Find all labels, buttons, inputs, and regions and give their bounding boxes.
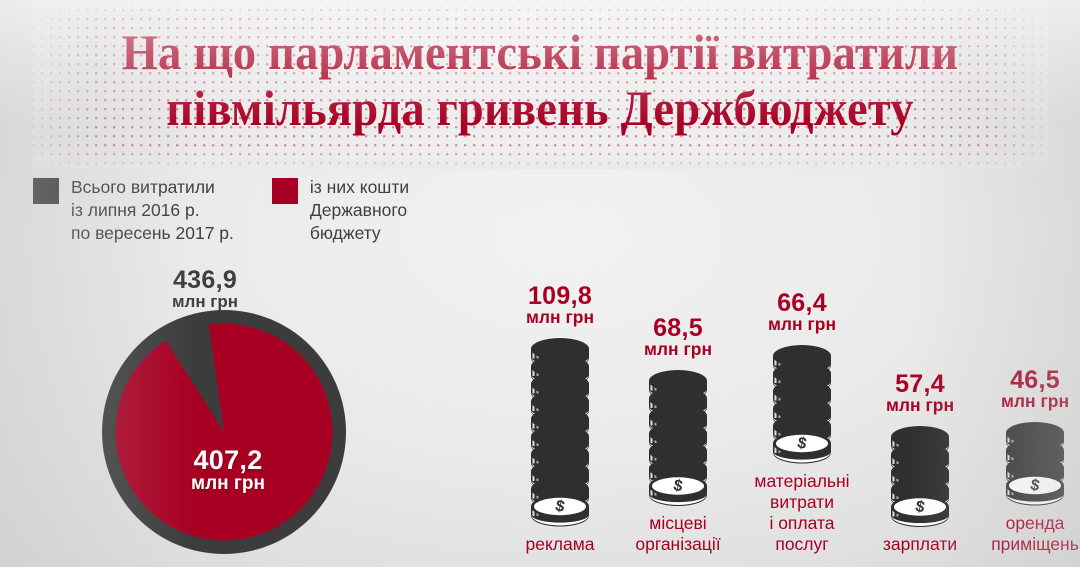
- legend-item-label: Всього витратили із липня 2016 р. по вер…: [71, 176, 234, 245]
- coin-stack-value-label: 66,4 млн грн: [750, 293, 854, 335]
- legend-item-total: Всього витратили із липня 2016 р. по вер…: [33, 176, 234, 245]
- pie-slice-value: 407,2: [140, 448, 316, 472]
- coin-stack-category-label: місцеві організації: [626, 513, 730, 555]
- pie-slice-label: 407,2 млн грн: [140, 448, 316, 496]
- coin-stack-icon: $: [626, 366, 730, 508]
- coin-stack-icon: $: [983, 418, 1080, 508]
- title-line-1: На що парламентські партії витратили: [122, 24, 958, 80]
- coin-stack-item: 68,5 млн грн $ місцеві організації: [626, 318, 730, 555]
- coin-stack-value: 66,4: [750, 293, 854, 314]
- coin-stack-unit: млн грн: [868, 395, 972, 416]
- dark-square-swatch-icon: [33, 178, 59, 204]
- legend-item-budget: із них кошти Державного бюджету: [272, 176, 409, 245]
- coin-stack-value: 68,5: [626, 318, 730, 339]
- coin-stack-category-label: матеріальні витрати і оплата послуг: [750, 471, 854, 555]
- pie-slice-budget: [115, 324, 332, 541]
- coin-stack-item: 57,4 млн грн $ зарплати: [868, 374, 972, 555]
- red-square-swatch-icon: [272, 178, 298, 204]
- coin-stack-category-label: оренда приміщень: [983, 513, 1080, 555]
- infographic-canvas: На що парламентські партії витратили пів…: [0, 0, 1080, 567]
- coin-stack-value: 109,8: [508, 286, 612, 307]
- coin-stack-icon: $: [508, 334, 612, 529]
- coin-stack-unit: млн грн: [626, 339, 730, 360]
- coin-stack-value: 57,4: [868, 374, 972, 395]
- coin-stack-value-label: 68,5 млн грн: [626, 318, 730, 360]
- coin-stack-item: 66,4 млн грн $ матеріальні витрати і опл…: [750, 293, 854, 555]
- legend-item-label: із них кошти Державного бюджету: [310, 176, 409, 245]
- coin-stack-icon: $: [750, 341, 854, 466]
- coin-stack-unit: млн грн: [983, 391, 1080, 412]
- coin-stack-item: 109,8 млн грн $ реклама: [508, 286, 612, 555]
- pie-total-label: 436,9 млн грн: [95, 270, 315, 312]
- coin-stack-icon: $: [868, 422, 972, 529]
- coin-stack-value-label: 57,4 млн грн: [868, 374, 972, 416]
- pie-slice-unit: млн грн: [140, 472, 316, 496]
- legend: Всього витратили із липня 2016 р. по вер…: [33, 176, 409, 245]
- coin-stack-category-label: зарплати: [868, 534, 972, 555]
- pie-chart-svg: [100, 308, 348, 556]
- coin-stack-category-label: реклама: [508, 534, 612, 555]
- coin-stack-value-label: 46,5 млн грн: [983, 370, 1080, 412]
- page-title: На що парламентські партії витратили пів…: [38, 24, 1042, 136]
- coin-stack-item: 46,5 млн грн $ оренда приміщень: [983, 370, 1080, 555]
- pie-chart: 436,9 млн грн 407,2 млн грн: [100, 308, 350, 558]
- title-line-2: півмільярда гривень Держбюджету: [38, 80, 1042, 136]
- coin-stack-unit: млн грн: [508, 307, 612, 328]
- pie-total-value: 436,9: [95, 270, 315, 291]
- coin-stack-value: 46,5: [983, 370, 1080, 391]
- header-band: На що парламентські партії витратили пів…: [0, 0, 1080, 169]
- coin-stack-value-label: 109,8 млн грн: [508, 286, 612, 328]
- coin-stack-chart: 109,8 млн грн $ реклама 68,5 млн грн $ м…: [460, 225, 1080, 555]
- coin-stack-unit: млн грн: [750, 314, 854, 335]
